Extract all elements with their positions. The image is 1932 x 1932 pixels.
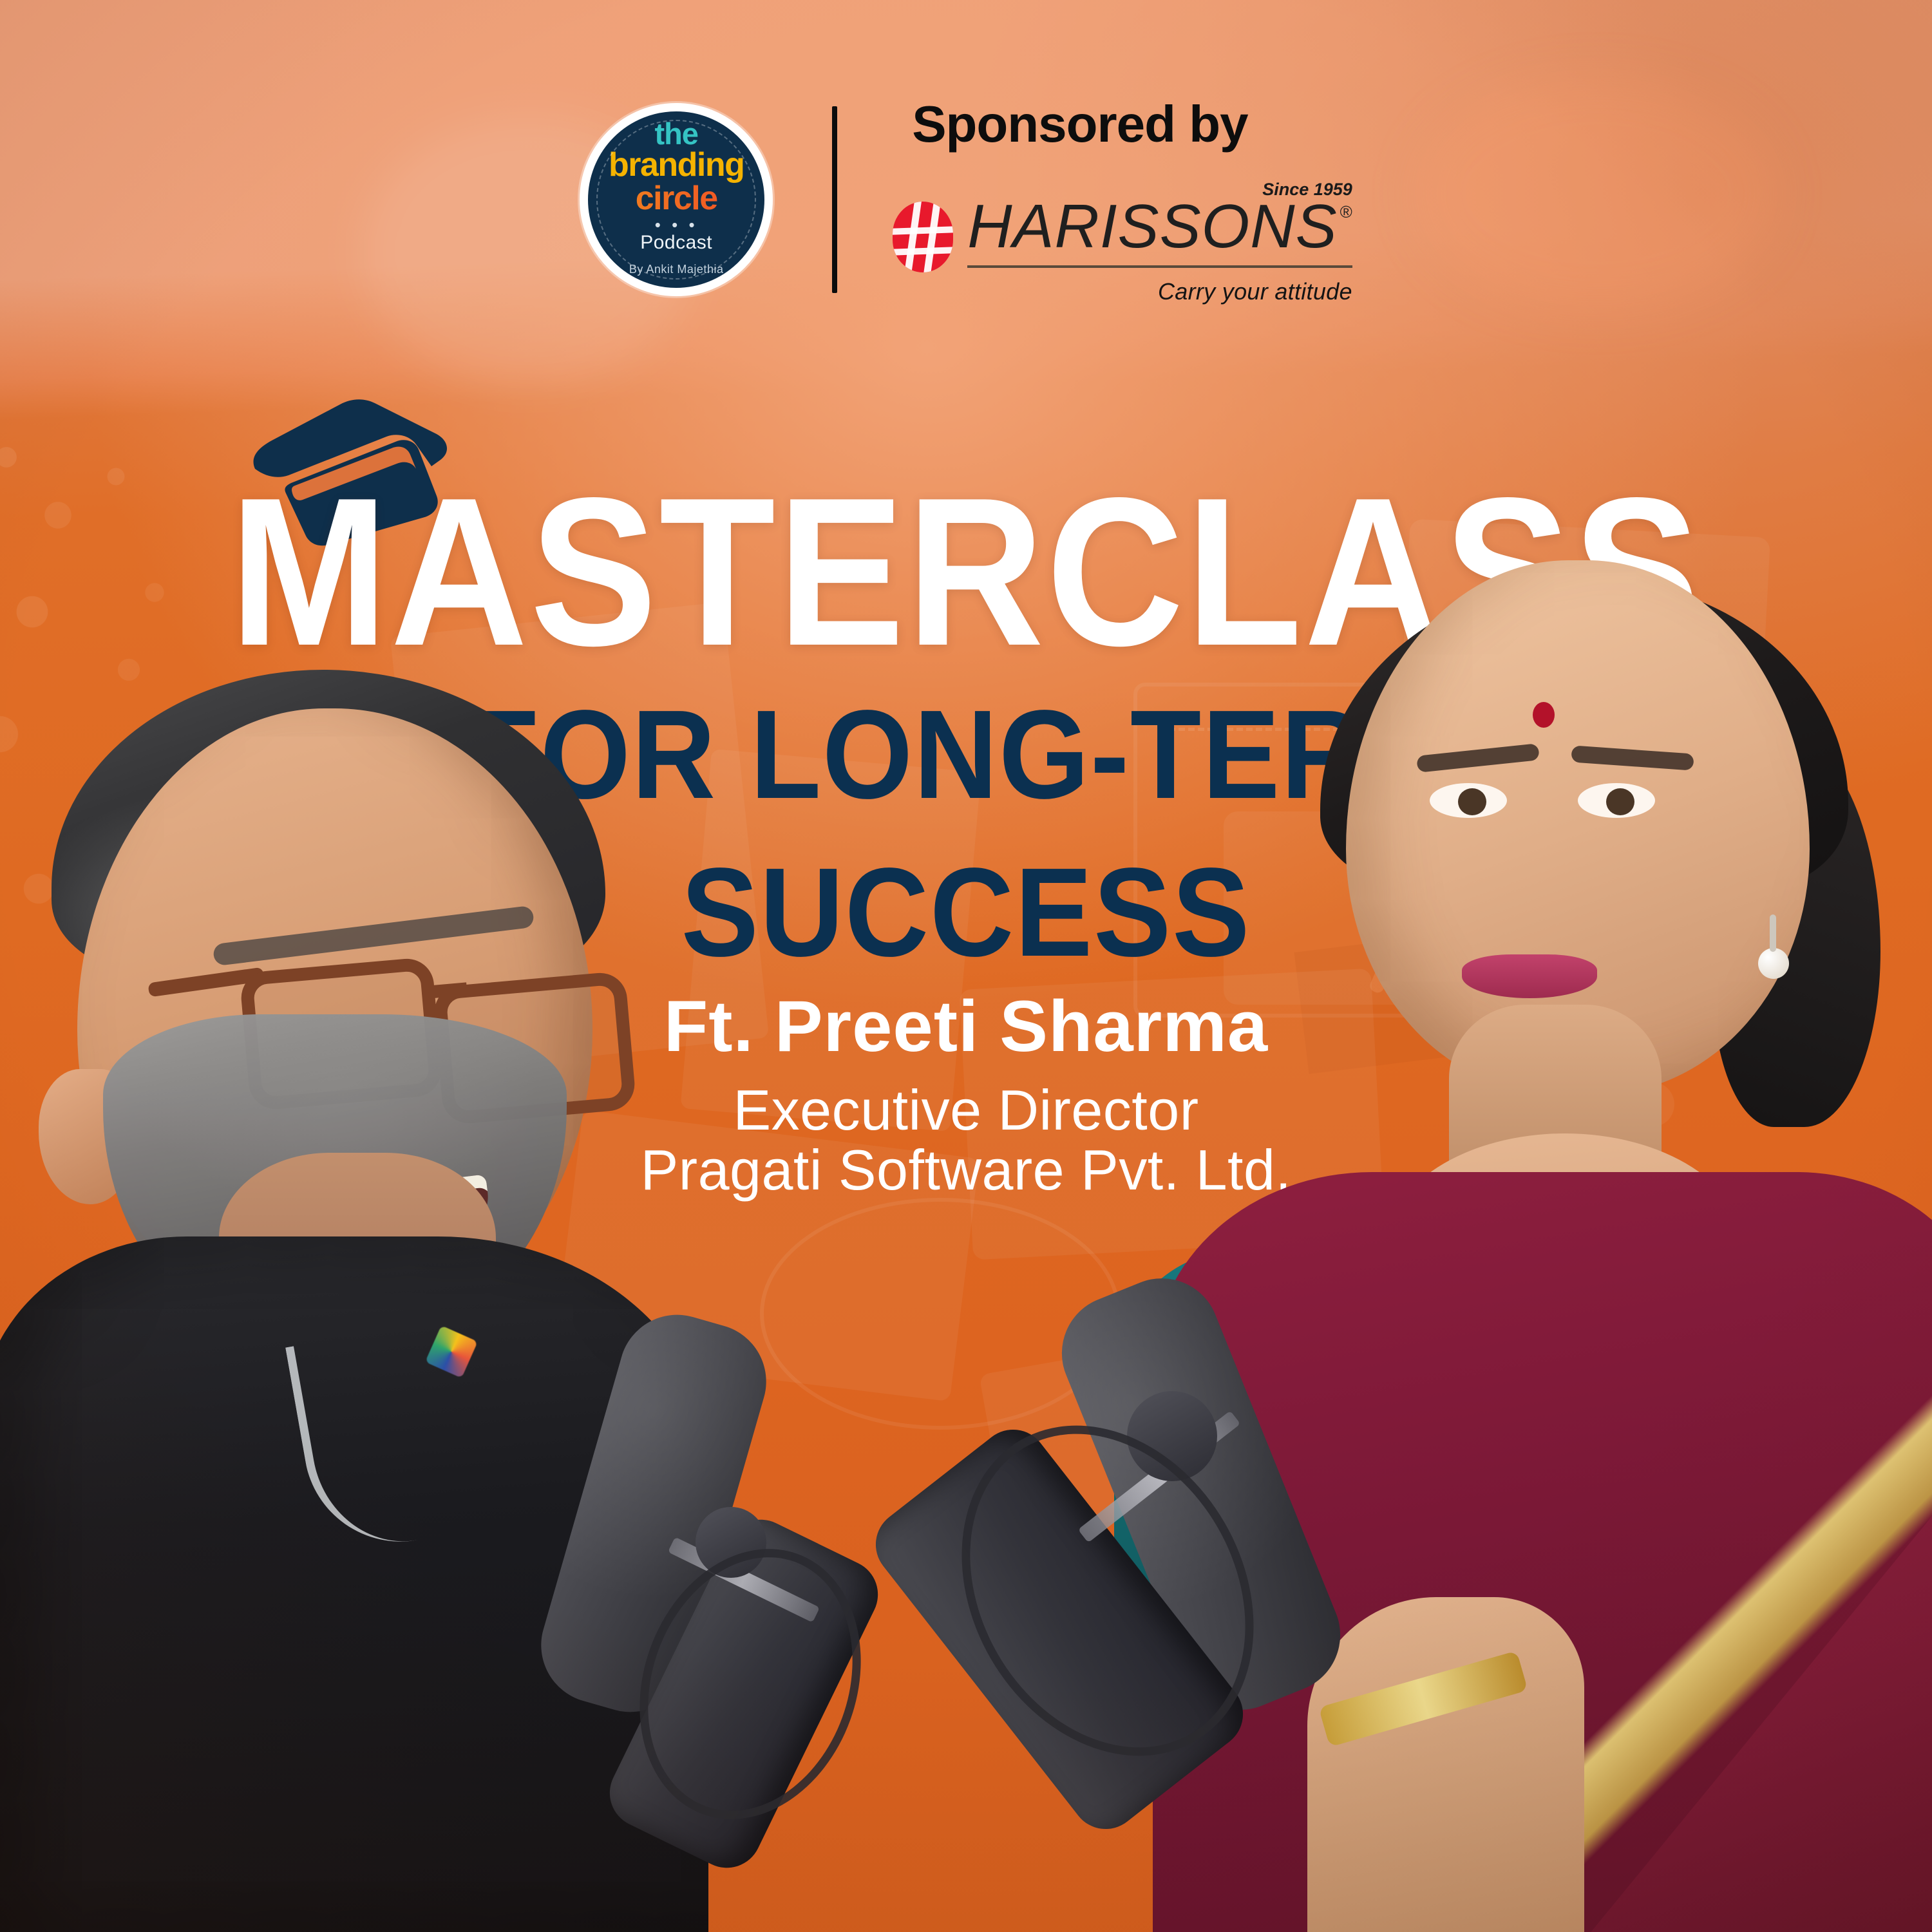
logo-dots-icon: • • • — [655, 219, 698, 231]
harissons-logo[interactable]: Since 1959 HARISSONS ® Carry your attitu… — [893, 180, 1352, 305]
top-sponsor-banner: the branding circle • • • Podcast By Ank… — [0, 0, 1932, 399]
vertical-divider-icon — [832, 106, 837, 293]
logo-line-circle: circle — [636, 182, 717, 215]
harissons-brand-name: HARISSONS — [967, 196, 1337, 258]
harissons-tagline: Carry your attitude — [967, 278, 1352, 305]
branding-circle-podcast-logo[interactable]: the branding circle • • • Podcast By Ank… — [580, 103, 773, 296]
pearl-earring-icon — [1758, 948, 1789, 979]
logo-line-branding: branding — [609, 148, 744, 182]
harissons-hash-mark-icon — [893, 202, 953, 272]
logo-line-the: the — [654, 119, 698, 148]
logo-line-author: By Ankit Majethia — [629, 263, 724, 276]
sponsored-by-label: Sponsored by — [912, 95, 1247, 154]
bindi-icon — [1533, 702, 1555, 728]
harissons-underline — [967, 265, 1352, 268]
logo-line-podcast: Podcast — [640, 232, 712, 254]
registered-trademark-icon: ® — [1340, 202, 1352, 222]
podcast-episode-poster: the branding circle • • • Podcast By Ank… — [0, 0, 1932, 1932]
sponsor-block: Sponsored by Since 1959 HARISSONS ® Carr… — [893, 95, 1352, 305]
podcast-microphone-icon-right — [850, 1275, 1481, 1932]
